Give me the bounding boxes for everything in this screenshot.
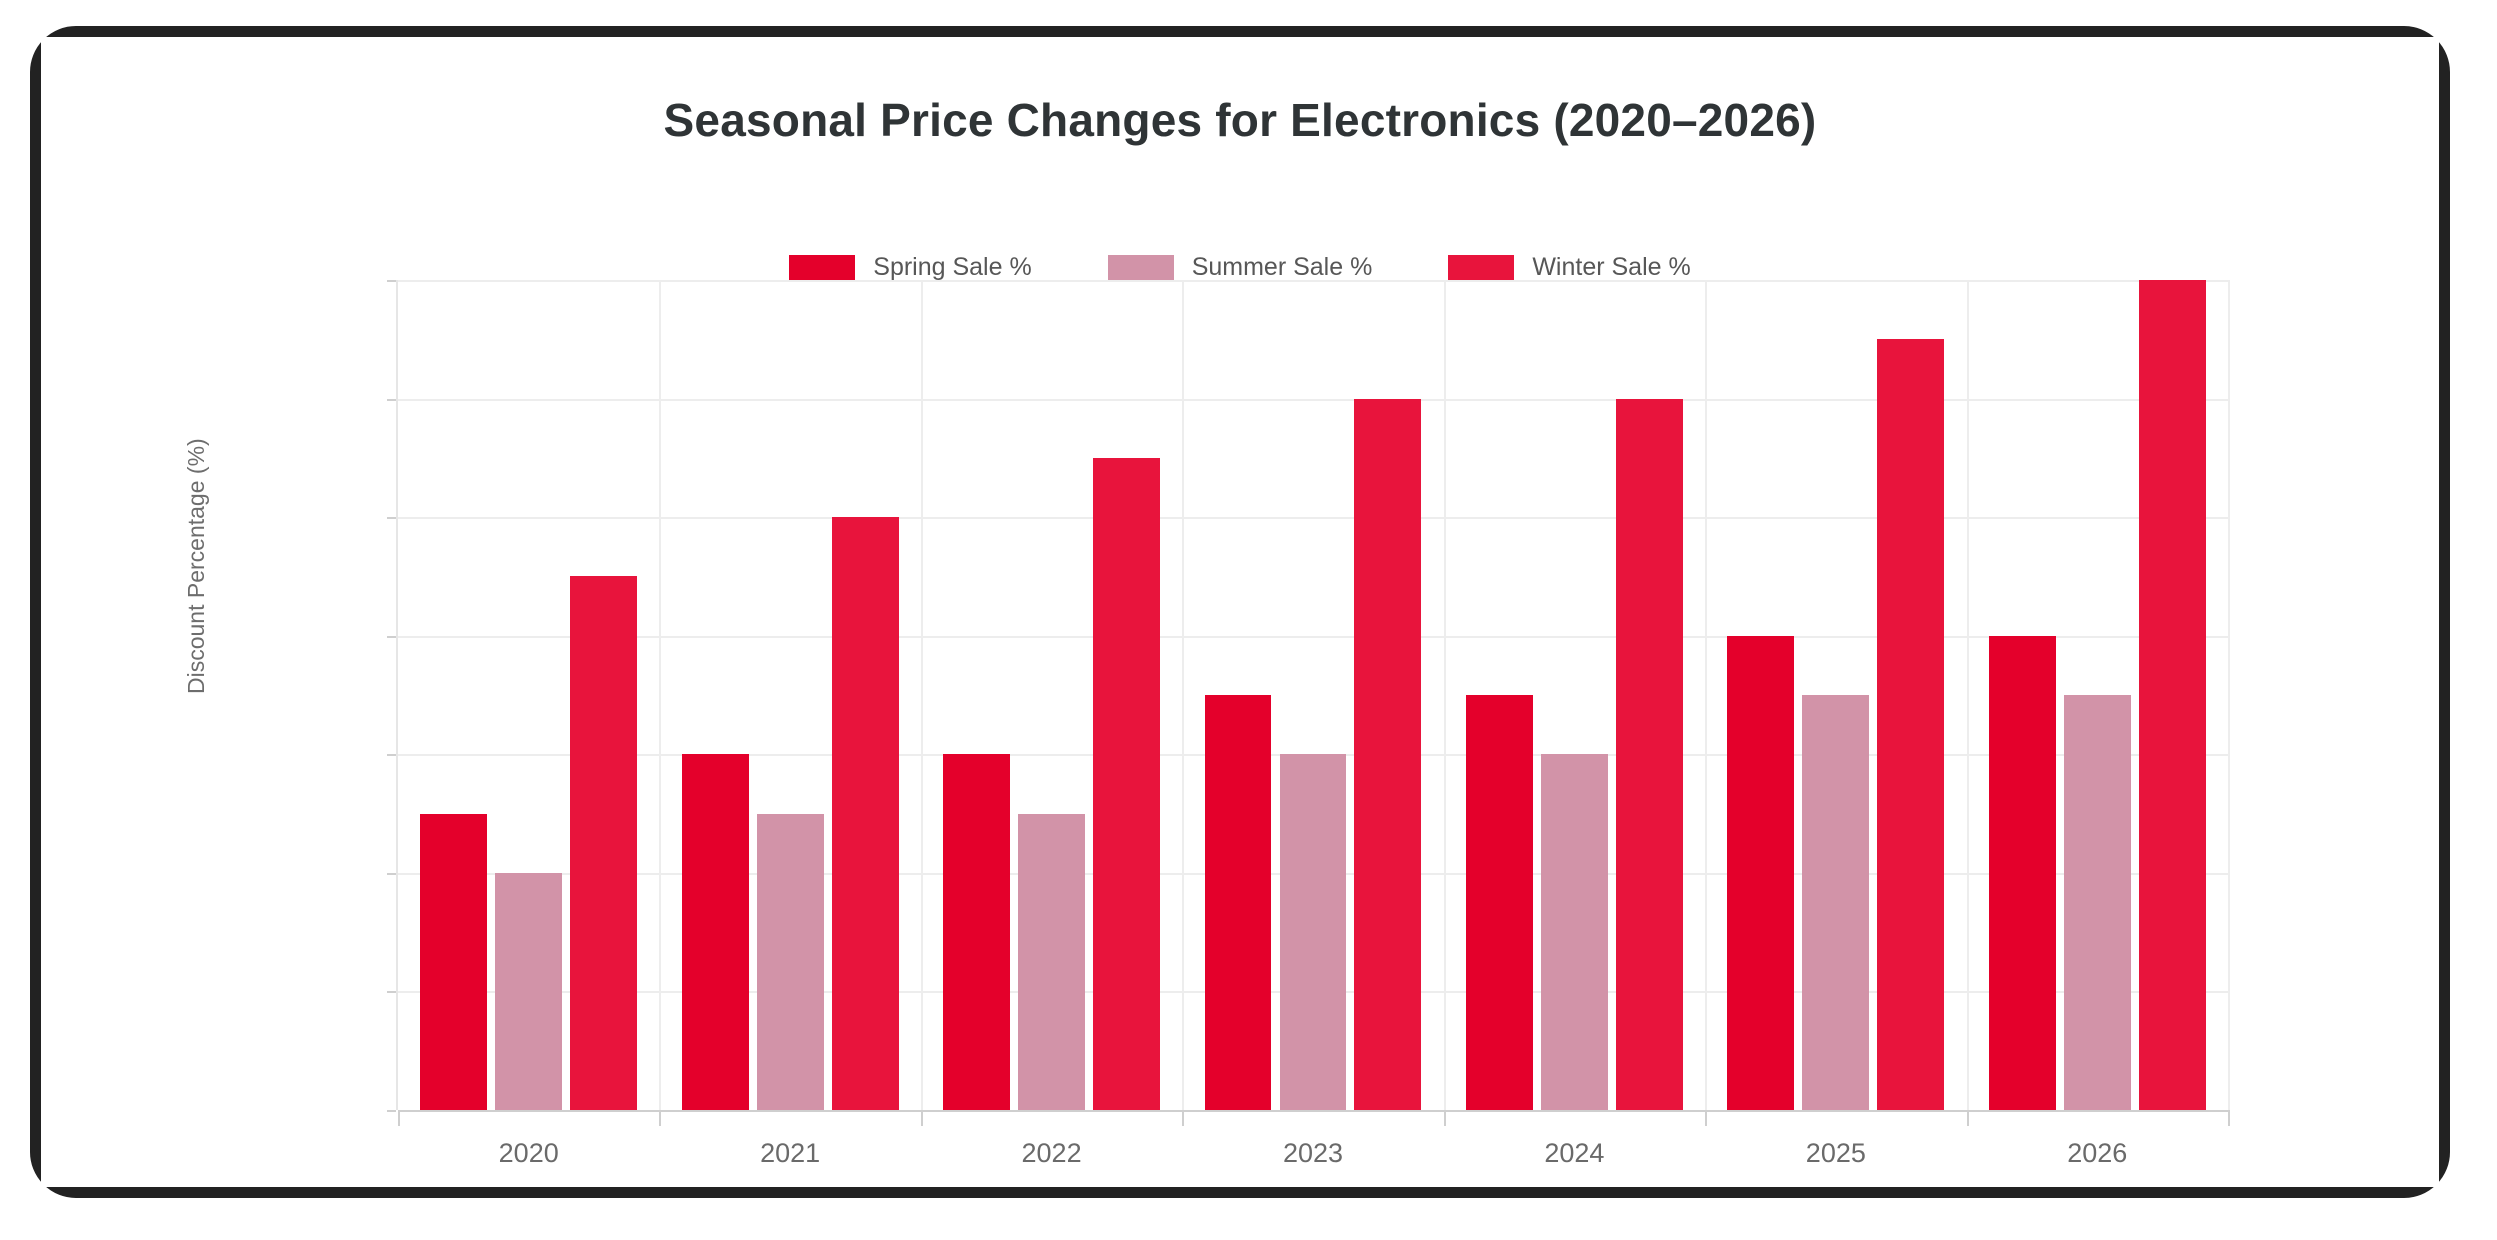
x-tick-label: 2021 [690,1138,890,1169]
x-tick-mark [398,1110,400,1126]
plot-area: 024681012142020202120222023202420252026 [396,280,2228,1110]
bar[interactable] [1802,695,1869,1110]
x-axis-line [398,1110,2228,1112]
x-tick-label: 2022 [952,1138,1152,1169]
x-tick-mark [659,1110,661,1126]
bar[interactable] [1466,695,1533,1110]
chart-card: Seasonal Price Changes for Electronics (… [41,37,2439,1187]
bar[interactable] [1354,399,1421,1110]
y-tick-mark [387,991,396,993]
gridline-vertical [1967,280,1969,1110]
x-tick-mark [2228,1110,2230,1126]
bar[interactable] [1616,399,1683,1110]
x-tick-mark [1705,1110,1707,1126]
bar[interactable] [2139,280,2206,1110]
bar[interactable] [1280,754,1347,1110]
x-tick-mark [921,1110,923,1126]
gridline-vertical [2228,280,2230,1110]
bar[interactable] [832,517,899,1110]
bar[interactable] [1205,695,1272,1110]
gridline-vertical [921,280,923,1110]
x-tick-label: 2023 [1213,1138,1413,1169]
y-tick-mark [387,873,396,875]
bar[interactable] [2064,695,2131,1110]
bar[interactable] [1018,814,1085,1110]
y-tick-mark [387,1110,396,1112]
y-tick-mark [387,280,396,282]
bar[interactable] [1541,754,1608,1110]
x-tick-mark [1182,1110,1184,1126]
gridline-horizontal [398,280,2228,282]
x-tick-label: 2024 [1474,1138,1674,1169]
bar[interactable] [495,873,562,1110]
x-tick-label: 2020 [429,1138,629,1169]
bar[interactable] [682,754,749,1110]
x-tick-label: 2025 [1736,1138,1936,1169]
gridline-vertical [1705,280,1707,1110]
x-tick-mark [1967,1110,1969,1126]
decorative-frame-wrapper: Seasonal Price Changes for Electronics (… [0,0,2497,1240]
gridline-vertical [659,280,661,1110]
x-tick-mark [1444,1110,1446,1126]
bar[interactable] [1727,636,1794,1110]
gridline-horizontal [398,517,2228,519]
y-tick-mark [387,754,396,756]
bar[interactable] [1093,458,1160,1110]
gridline-vertical [1444,280,1446,1110]
y-tick-mark [387,517,396,519]
bar[interactable] [943,754,1010,1110]
y-tick-mark [387,399,396,401]
gridline-horizontal [398,399,2228,401]
x-tick-label: 2026 [1997,1138,2197,1169]
bar[interactable] [570,576,637,1110]
bar[interactable] [1877,339,1944,1110]
bar[interactable] [1989,636,2056,1110]
y-tick-mark [387,636,396,638]
gridline-vertical [1182,280,1184,1110]
gridline-horizontal [398,636,2228,638]
plot-wrapper: Discount Percentage (%) 0246810121420202… [41,37,2439,1187]
bar[interactable] [757,814,824,1110]
bar[interactable] [420,814,487,1110]
